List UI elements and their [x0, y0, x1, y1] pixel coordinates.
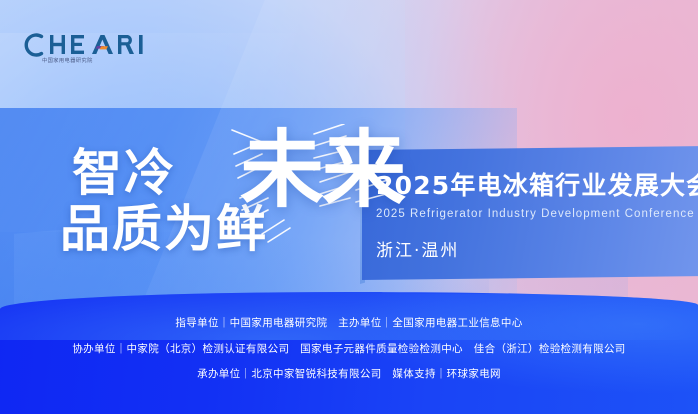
headline-block: 未来 智冷 品质为鲜: [60, 148, 380, 278]
cheari-logo-subtitle: 中国家用电器研究院: [42, 57, 93, 64]
cheari-logo: 中国家用电器研究院: [24, 30, 156, 70]
footer-band: 指导单位｜中国家用电器研究院 主办单位｜全国家用电器工业信息中心 协办单位｜中家…: [0, 292, 698, 414]
event-location: 浙江·温州: [376, 236, 694, 261]
cheari-logo-icon: [24, 30, 156, 70]
footer-line-guidance: 指导单位｜中国家用电器研究院 主办单位｜全国家用电器工业信息中心: [0, 318, 698, 329]
event-info-block: 2025年电冰箱行业发展大会 2025 Refrigerator Industr…: [376, 166, 694, 261]
event-subtitle-english: 2025 Refrigerator Industry Development C…: [376, 208, 694, 220]
conference-banner: 中国家用电器研究院 未来 智冷 品质为鲜 2025年电冰箱行业发展大会 2025…: [0, 0, 698, 414]
footer-line-undertaker: 承办单位｜北京中家智锐科技有限公司 媒体支持｜环球家电网: [0, 369, 698, 380]
footer-line-coorganizers: 协办单位｜中家院（北京）检测认证有限公司 国家电子元器件质量检验检测中心 佳合（…: [0, 344, 698, 355]
event-title: 2025年电冰箱行业发展大会: [376, 166, 694, 202]
footer-credits: 指导单位｜中国家用电器研究院 主办单位｜全国家用电器工业信息中心 协办单位｜中家…: [0, 318, 698, 380]
